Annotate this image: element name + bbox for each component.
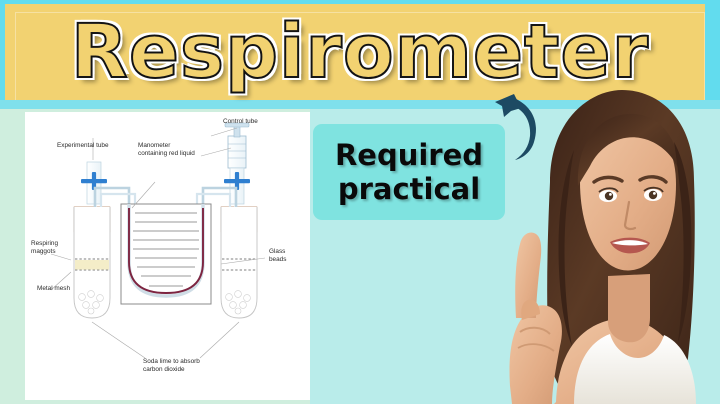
video-thumbnail: Respirometer Respirometer bbox=[0, 0, 720, 404]
label-control-tube: Control tube bbox=[223, 118, 283, 126]
diagram-card: Experimental tube Control tube Manometer… bbox=[25, 112, 310, 400]
label-manometer: Manometer containing red liquid bbox=[138, 142, 200, 159]
callout-line-2: practical bbox=[338, 173, 480, 205]
syringe-icon bbox=[225, 123, 249, 168]
manometer-group bbox=[121, 204, 211, 304]
label-experimental-tube: Experimental tube bbox=[57, 142, 131, 150]
presenter-photo bbox=[498, 86, 720, 404]
callout-line-1: Required bbox=[335, 139, 483, 171]
label-respiring-maggots: Respiring maggots bbox=[31, 240, 73, 257]
label-glass-beads: Glass beads bbox=[269, 248, 303, 265]
label-metal-mesh: Metal mesh bbox=[37, 285, 71, 293]
callout-text: Required practical bbox=[313, 124, 505, 220]
label-soda-lime: Soda lime to absorb carbon dioxide bbox=[143, 358, 205, 375]
